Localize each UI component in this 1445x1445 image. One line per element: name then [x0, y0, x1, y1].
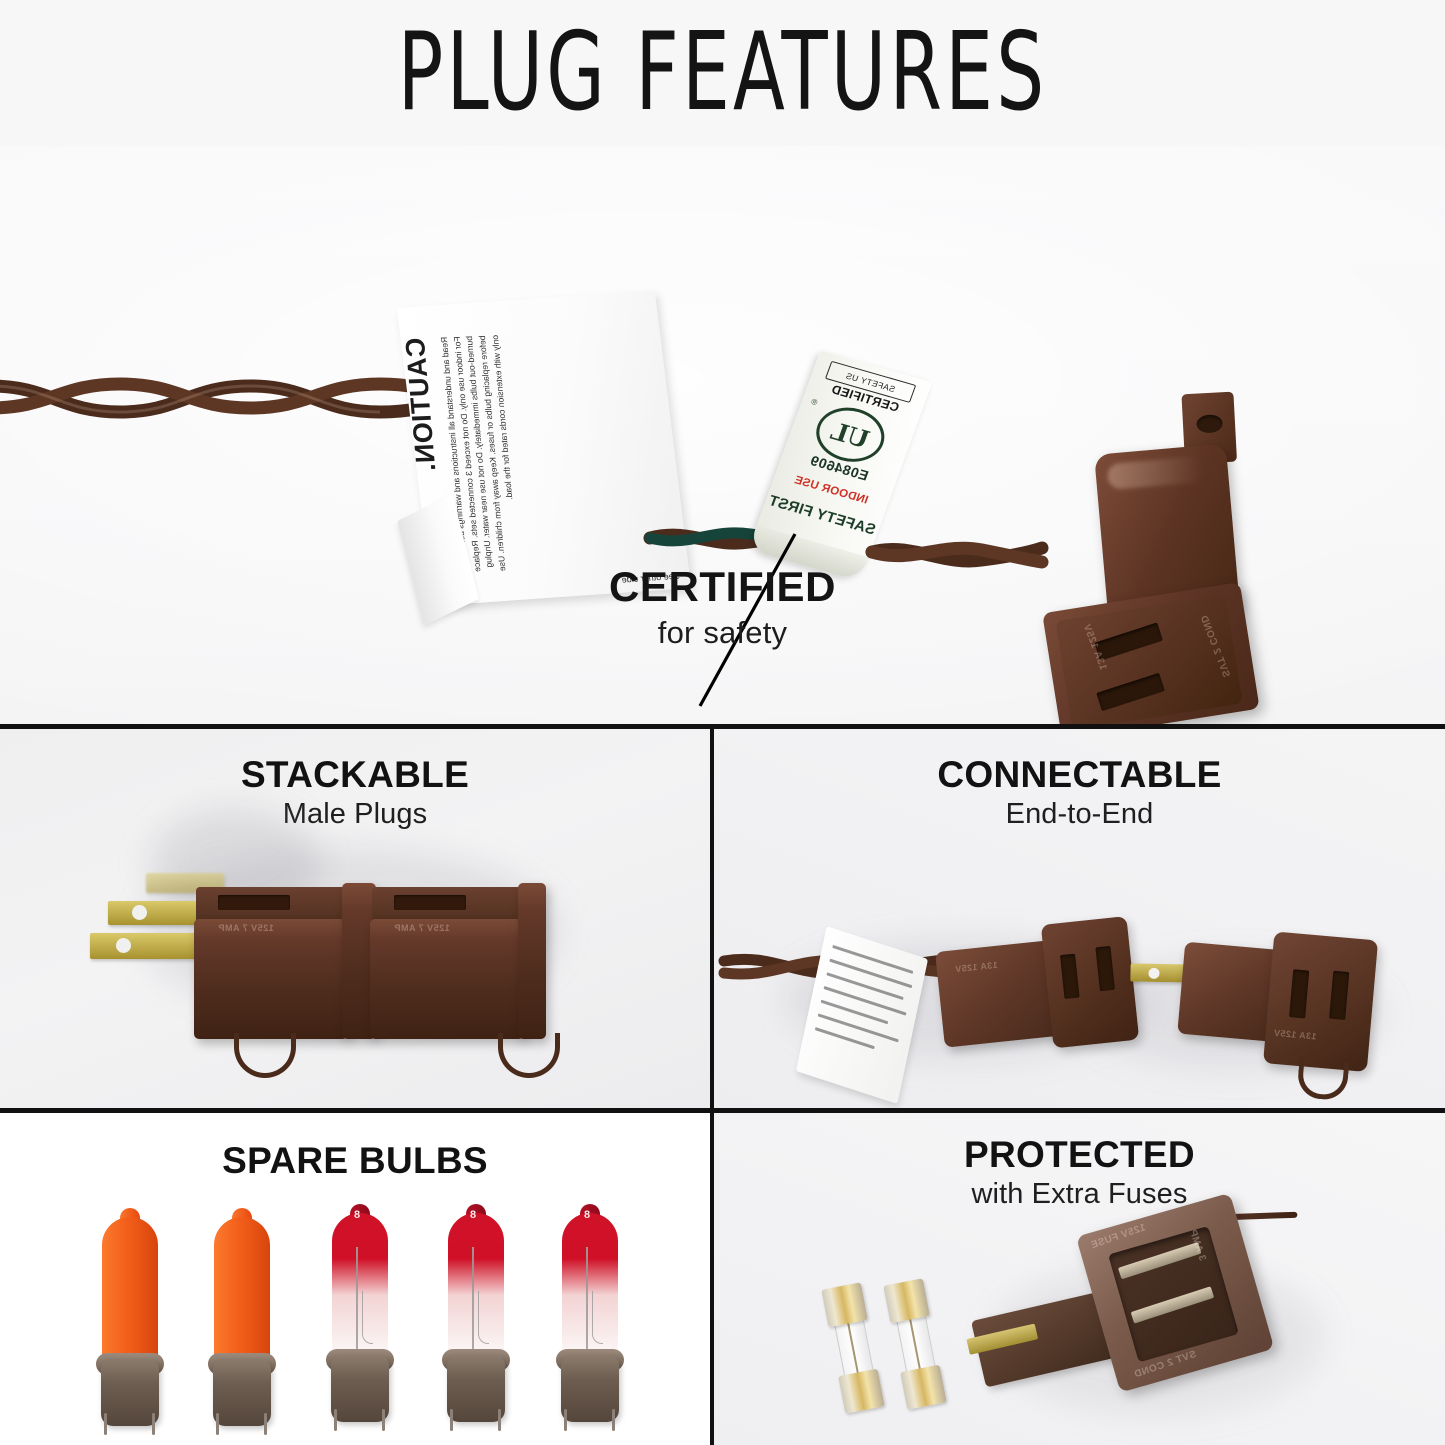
bulb-3-filament [356, 1247, 358, 1351]
bulb-4: 8 [434, 1213, 518, 1425]
fuse-2-cap-bottom [900, 1365, 947, 1410]
bulb-2 [200, 1217, 284, 1429]
spare-bulbs-title: SPARE BULBS [0, 1141, 710, 1180]
plug-1-wire-loop [234, 1033, 296, 1078]
protected-title: PROTECTED [714, 1135, 1445, 1174]
bulb-3: 8 [318, 1213, 402, 1425]
male-plug-wire-loop [1296, 1058, 1349, 1101]
bulb-5-mark: 8 [584, 1209, 590, 1221]
panel-stackable: STACKABLE Male Plugs 125V 7 AMP [0, 729, 710, 1108]
certified-callout: CERTIFIED for safety [0, 564, 1445, 651]
plug-1-marking: 125V 7 AMP [218, 923, 274, 933]
bulb-1-base [101, 1360, 159, 1426]
bulb-3-filament-loop [362, 1291, 373, 1344]
stackable-subtitle: Male Plugs [0, 798, 710, 831]
fuse-2 [880, 1278, 949, 1410]
callout-subtitle: for safety [0, 615, 1445, 651]
bulb-5: 8 [548, 1213, 632, 1425]
bulb-1 [88, 1217, 172, 1429]
stackable-heading: STACKABLE Male Plugs [0, 755, 710, 831]
callout-title: CERTIFIED [0, 564, 1445, 609]
spare-bulbs-heading: SPARE BULBS [0, 1141, 710, 1184]
connectable-heading: CONNECTABLE End-to-End [714, 755, 1445, 831]
page-title: PLUG FEATURES [398, 19, 1048, 127]
plug-1-body [194, 919, 348, 1039]
plug-2-marking: 125V 7 AMP [394, 923, 450, 933]
bulb-4-filament-loop [478, 1291, 489, 1344]
bulb-4-filament [472, 1247, 474, 1351]
male-plug-face [1263, 931, 1378, 1072]
bulb-5-filament [586, 1247, 588, 1351]
bulb-1-glass [102, 1217, 158, 1369]
bulb-5-base [561, 1356, 619, 1422]
panel-protected: PROTECTED with Extra Fuses 125V FUS [714, 1113, 1445, 1445]
plug-prong-lower [90, 933, 196, 959]
connectable-male-plug: 13A 125V [1112, 914, 1375, 1095]
plug-2-slot [394, 895, 466, 910]
plug-2-body [370, 919, 524, 1039]
infographic-page: PLUG FEATURES CAUTION. Read and understa… [0, 0, 1445, 1445]
bulb-3-mark: 8 [354, 1209, 360, 1221]
bulb-3-base [331, 1356, 389, 1422]
bulb-4-glass [448, 1213, 504, 1365]
registered-trademark-icon: ® [810, 397, 819, 407]
protected-heading: PROTECTED with Extra Fuses [714, 1135, 1445, 1211]
bulb-5-filament-loop [592, 1291, 603, 1344]
fuse-1-cap-bottom [838, 1369, 885, 1414]
female-connector: 13A 125V SVT 2 COND [994, 383, 1293, 728]
stacked-male-plugs: 125V 7 AMP 125V 7 AMP [88, 861, 648, 1076]
bulb-5-glass [562, 1213, 618, 1365]
bulb-4-mark: 8 [470, 1209, 476, 1221]
bulb-2-base [213, 1360, 271, 1426]
bulb-2-glass [214, 1217, 270, 1369]
fuse-1-cap-top [821, 1282, 868, 1327]
panel-spare-bulbs: SPARE BULBS 8 [0, 1113, 710, 1445]
plug-2-wire-loop [498, 1033, 560, 1078]
plug-prong-upper [108, 901, 200, 925]
panel-connectable: CONNECTABLE End-to-End 13A 125 [714, 729, 1445, 1108]
stackable-title: STACKABLE [0, 755, 710, 794]
fuse-2-cap-top [883, 1278, 930, 1323]
bulb-4-base [447, 1356, 505, 1422]
plug-1-slot [218, 895, 290, 910]
title-bar: PLUG FEATURES [0, 0, 1445, 146]
fuse-1 [818, 1282, 887, 1414]
connectable-subtitle: End-to-End [714, 798, 1445, 831]
plug-end-ridge [518, 883, 546, 1039]
bulb-3-glass [332, 1213, 388, 1365]
connectable-title: CONNECTABLE [714, 755, 1445, 794]
hero-panel: CAUTION. Read and understand all instruc… [0, 146, 1445, 728]
